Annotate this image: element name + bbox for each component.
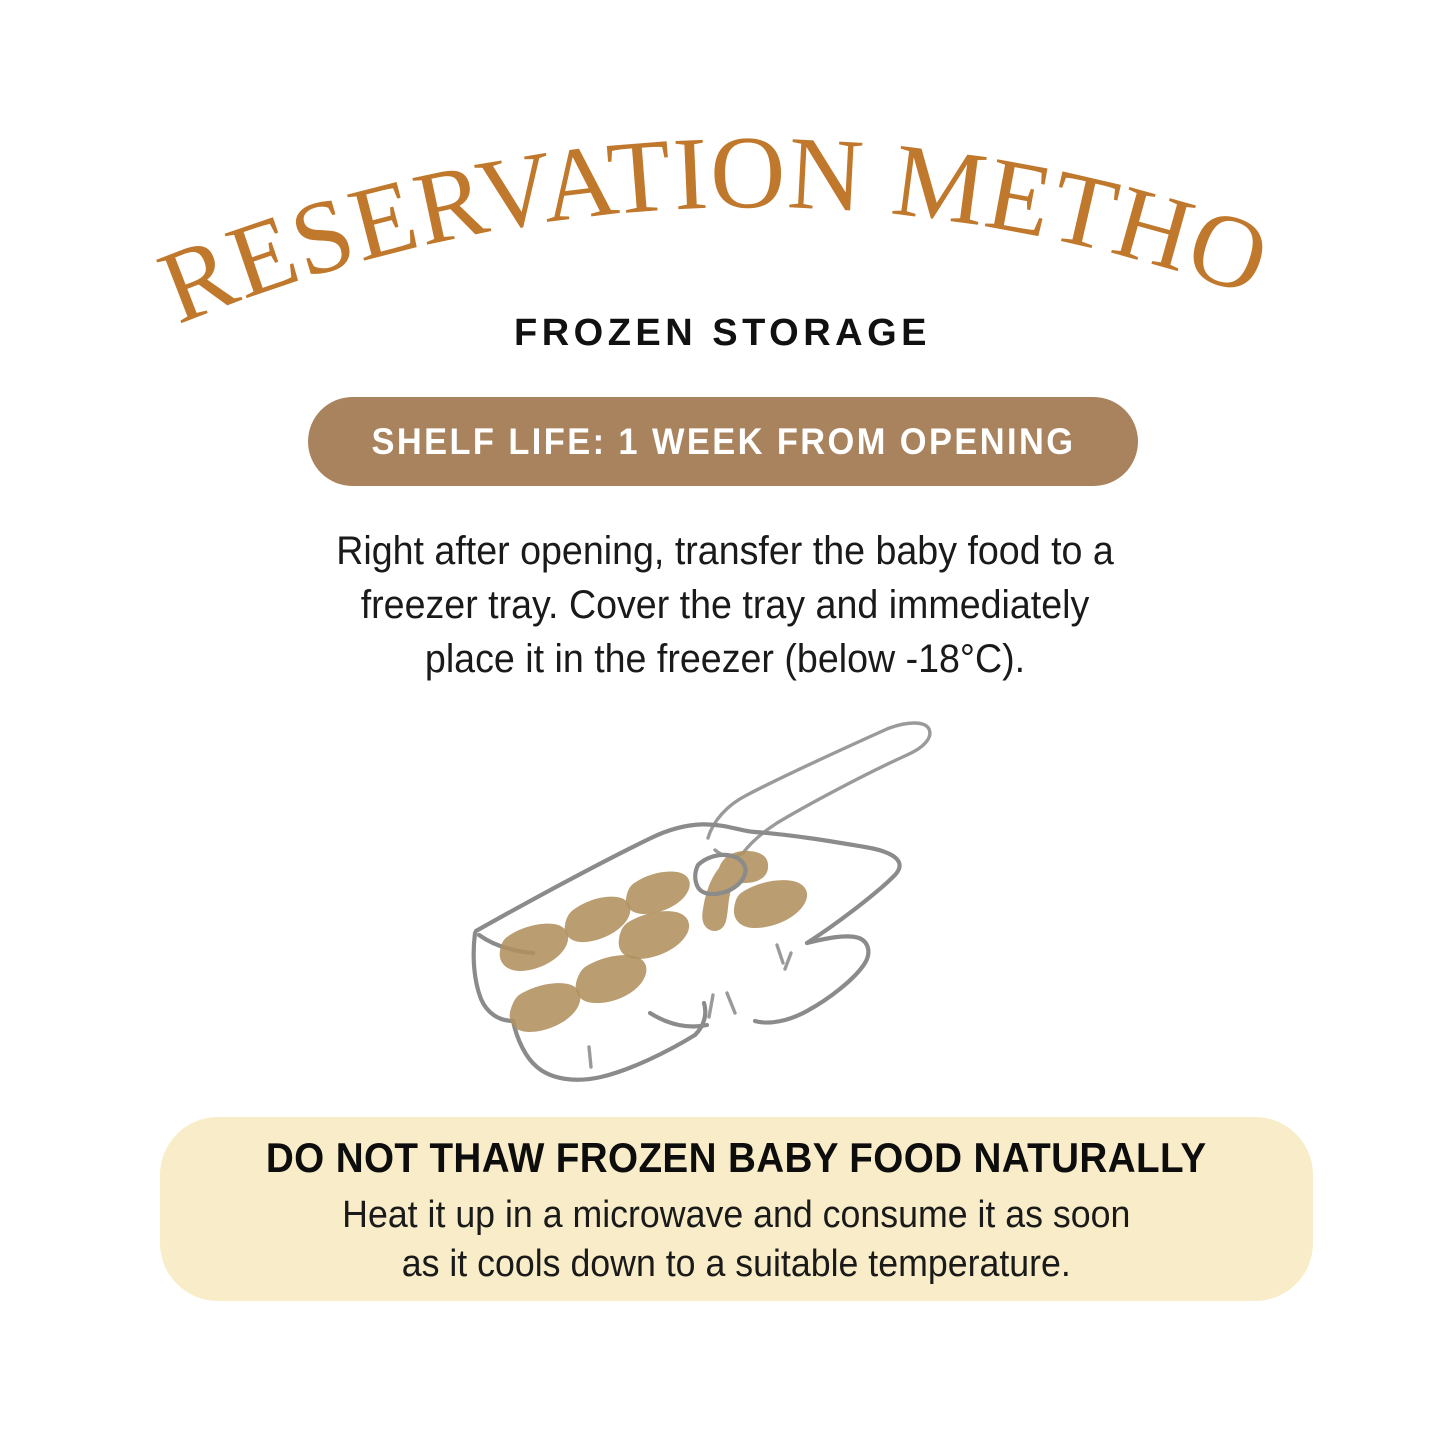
instructions-line-3: place it in the freezer (below -18°C). <box>316 632 1134 686</box>
instructions-line-1: Right after opening, transfer the baby f… <box>316 524 1134 578</box>
arched-title-textpath: PRESERVATION METHOD <box>0 38 1283 346</box>
warning-heading: DO NOT THAW FROZEN BABY FOOD NATURALLY <box>266 1134 1207 1182</box>
freezer-tray-illustration <box>455 695 995 1095</box>
instructions-paragraph: Right after opening, transfer the baby f… <box>290 524 1160 686</box>
warning-line-1: Heat it up in a microwave and consume it… <box>342 1191 1130 1240</box>
warning-line-2: as it cools down to a suitable temperatu… <box>342 1240 1130 1289</box>
preservation-method-card: PRESERVATION METHOD FROZEN STORAGE SHELF… <box>0 0 1445 1445</box>
spoon-icon <box>708 723 930 857</box>
warning-body: Heat it up in a microwave and consume it… <box>317 1191 1156 1289</box>
page-subtitle: FROZEN STORAGE <box>0 313 1445 355</box>
filled-compartments <box>500 872 807 1032</box>
arched-title: PRESERVATION METHOD <box>0 130 1445 340</box>
shelf-life-badge: SHELF LIFE: 1 WEEK FROM OPENING <box>308 397 1138 486</box>
warning-panel: DO NOT THAW FROZEN BABY FOOD NATURALLY H… <box>160 1117 1313 1301</box>
arched-title-text: PRESERVATION METHOD <box>0 38 1283 346</box>
instructions-line-2: freezer tray. Cover the tray and immedia… <box>316 578 1134 632</box>
shelf-life-badge-label: SHELF LIFE: 1 WEEK FROM OPENING <box>371 421 1075 463</box>
